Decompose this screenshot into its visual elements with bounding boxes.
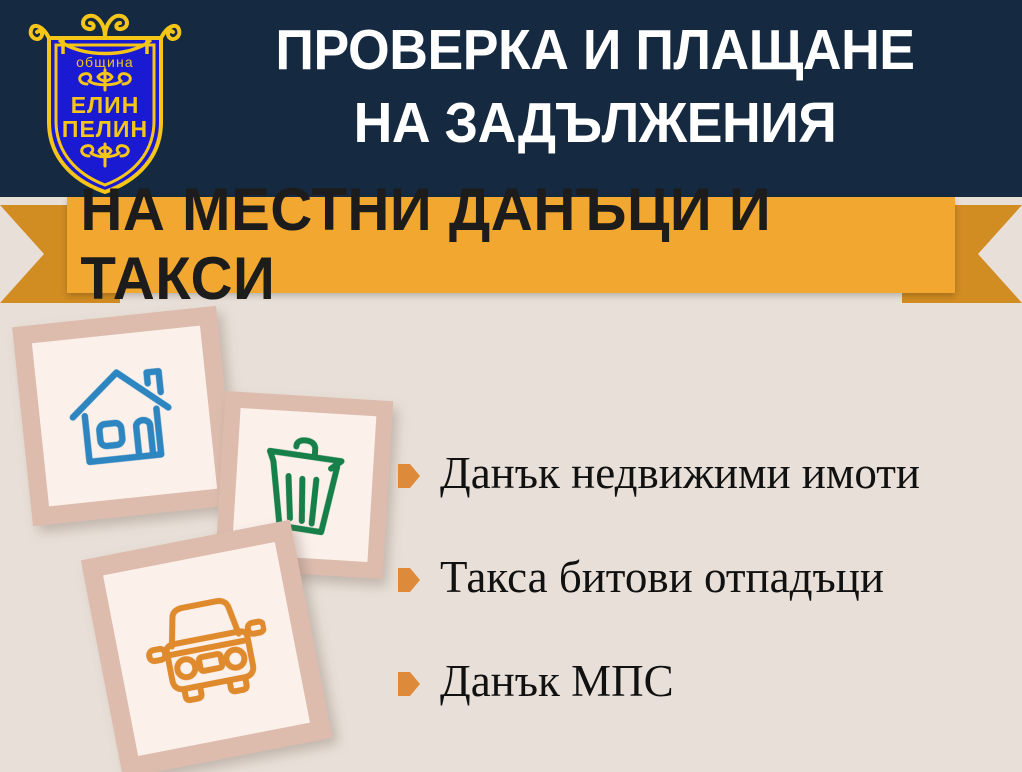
poster-root: ПРОВЕРКА И ПЛАЩАНЕ НА ЗАДЪЛЖЕНИЯ община — [0, 0, 1022, 772]
coat-of-arms-icon: община ЕЛИН ПЕЛИН — [27, 4, 183, 194]
bullet-arrow-icon — [398, 464, 420, 488]
list-item: Данък МПС — [398, 630, 1013, 734]
stamp-paper — [103, 542, 310, 756]
page-title: ПРОВЕРКА И ПЛАЩАНЕ НА ЗАДЪЛЖЕНИЯ — [200, 14, 990, 160]
svg-text:община: община — [76, 54, 134, 70]
car-icon — [136, 585, 278, 713]
list-item-label: Такса битови отпадъци — [440, 554, 884, 601]
tax-type-list: Данък недвижими имоти Такса битови отпад… — [398, 422, 1013, 734]
list-item-label: Данък МПС — [440, 658, 674, 705]
bullet-arrow-icon — [398, 568, 420, 592]
ribbon-banner: НА МЕСТНИ ДАНЪЦИ И ТАКСИ — [0, 197, 1022, 307]
house-icon — [59, 354, 190, 478]
ribbon-band: НА МЕСТНИ ДАНЪЦИ И ТАКСИ — [67, 197, 955, 293]
stamp-card-property — [12, 306, 237, 526]
municipality-logo: община ЕЛИН ПЕЛИН — [27, 4, 183, 194]
ribbon-label: НА МЕСТНИ ДАНЪЦИ И ТАКСИ — [80, 197, 941, 293]
stamp-card-vehicle — [81, 520, 332, 772]
list-item: Такса битови отпадъци — [398, 526, 1013, 630]
list-item: Данък недвижими имоти — [398, 422, 1013, 526]
stamp-paper — [32, 326, 217, 507]
list-item-label: Данък недвижими имоти — [440, 450, 920, 497]
bullet-arrow-icon — [398, 672, 420, 696]
svg-text:ПЕЛИН: ПЕЛИН — [62, 116, 148, 142]
svg-text:ЕЛИН: ЕЛИН — [71, 92, 140, 118]
